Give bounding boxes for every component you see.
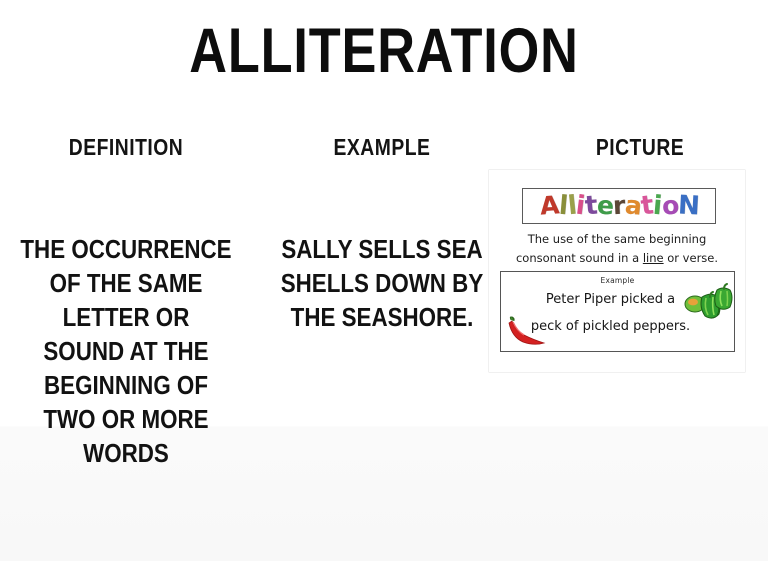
poster-title-colored: AlliteratioN xyxy=(523,189,716,224)
slide-canvas: ALLITERATION DEFINITION EXAMPLE PICTURE … xyxy=(0,0,768,561)
column-header-picture: PICTURE xyxy=(539,133,741,161)
column-header-definition: DEFINITION xyxy=(25,133,227,161)
red-chili-pepper-icon xyxy=(503,316,547,347)
poster-title-letter: N xyxy=(677,188,700,223)
example-text: SALLY SELLS SEA SHELLS DOWN BY THE SEASH… xyxy=(279,232,485,334)
green-bell-peppers-icon xyxy=(684,281,736,325)
poster-title-box: AlliteratioN xyxy=(522,188,716,224)
desc2-underlined-word: line xyxy=(643,251,664,265)
column-header-example: EXAMPLE xyxy=(281,133,483,161)
desc2-post: or verse. xyxy=(664,251,718,265)
poster-description-line2: consonant sound in a line or verse. xyxy=(495,251,739,265)
definition-text: THE OCCURRENCE OF THE SAME LETTER OR SOU… xyxy=(19,232,232,470)
desc2-pre: consonant sound in a xyxy=(516,251,643,265)
page-title: ALLITERATION xyxy=(65,16,702,86)
poster-title-letter: e xyxy=(595,188,614,223)
poster-description-line1: The use of the same beginning xyxy=(495,232,739,246)
poster-example-box: Example Peter Piper picked a peck of pic… xyxy=(500,271,735,352)
alliteration-poster-image: AlliteratioN The use of the same beginni… xyxy=(489,170,745,372)
